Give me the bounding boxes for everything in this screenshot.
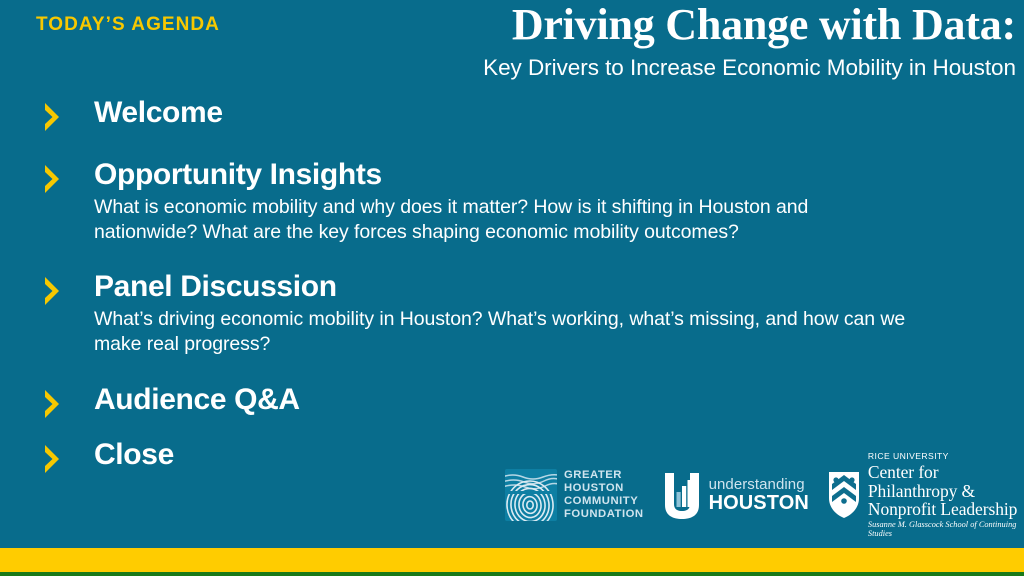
chevron-right-icon — [42, 102, 64, 132]
uh-line-2: HOUSTON — [709, 493, 809, 513]
ghcf-line-3: COMMUNITY — [564, 495, 638, 507]
ghcf-line-2: HOUSTON — [564, 482, 624, 494]
fingerprint-icon — [505, 469, 557, 521]
agenda-item-title: Opportunity Insights — [94, 158, 960, 193]
logo-text-ghcf: GREATER HOUSTON COMMUNITY FOUNDATION — [564, 469, 644, 522]
logo-text-rice: RICE UNIVERSITY Center for Philanthropy … — [868, 452, 1024, 538]
rice-line-1: RICE UNIVERSITY — [868, 452, 1024, 461]
partner-logos: GREATER HOUSTON COMMUNITY FOUNDATION und… — [505, 462, 1024, 528]
agenda-item-panel-discussion: Panel Discussion What’s driving economic… — [0, 270, 960, 357]
agenda-list: Welcome Opportunity Insights What is eco… — [0, 96, 960, 474]
footer-gold-bar — [0, 548, 1024, 572]
title-block: Driving Change with Data: Key Drivers to… — [376, 2, 1016, 81]
kicker-todays-agenda: TODAY’S AGENDA — [36, 14, 220, 36]
logo-greater-houston-community-foundation: GREATER HOUSTON COMMUNITY FOUNDATION — [505, 469, 644, 522]
bar-chart-u-icon — [662, 470, 702, 520]
chevron-right-icon — [42, 444, 64, 474]
logo-rice-center-for-philanthropy: RICE UNIVERSITY Center for Philanthropy … — [827, 452, 1024, 538]
footer-green-bar — [0, 572, 1024, 576]
agenda-item-title: Audience Q&A — [94, 383, 960, 418]
uh-line-1: understanding — [709, 477, 809, 492]
logo-understanding-houston: understanding HOUSTON — [662, 470, 809, 520]
agenda-item-welcome: Welcome — [0, 96, 960, 131]
ghcf-line-1: GREATER — [564, 469, 622, 481]
logo-text-understanding-houston: understanding HOUSTON — [709, 477, 809, 513]
agenda-item-title: Welcome — [94, 96, 960, 131]
chevron-right-icon — [42, 164, 64, 194]
rice-shield-icon — [827, 470, 861, 520]
agenda-item-description: What is economic mobility and why does i… — [94, 195, 914, 246]
ghcf-line-4: FOUNDATION — [564, 508, 644, 520]
slide-title: Driving Change with Data: — [376, 2, 1016, 48]
agenda-item-opportunity-insights: Opportunity Insights What is economic mo… — [0, 158, 960, 245]
rice-line-2: Center for Philanthropy & Nonprofit Lead… — [868, 463, 1024, 520]
agenda-item-title: Panel Discussion — [94, 270, 960, 305]
slide: TODAY’S AGENDA Driving Change with Data:… — [0, 0, 1024, 576]
chevron-right-icon — [42, 389, 64, 419]
agenda-item-audience-qa: Audience Q&A — [0, 383, 960, 418]
rice-line-3: Susanne M. Glasscock School of Continuin… — [868, 521, 1024, 538]
agenda-item-description: What’s driving economic mobility in Hous… — [94, 307, 914, 358]
chevron-right-icon — [42, 276, 64, 306]
slide-subtitle: Key Drivers to Increase Economic Mobilit… — [376, 55, 1016, 81]
